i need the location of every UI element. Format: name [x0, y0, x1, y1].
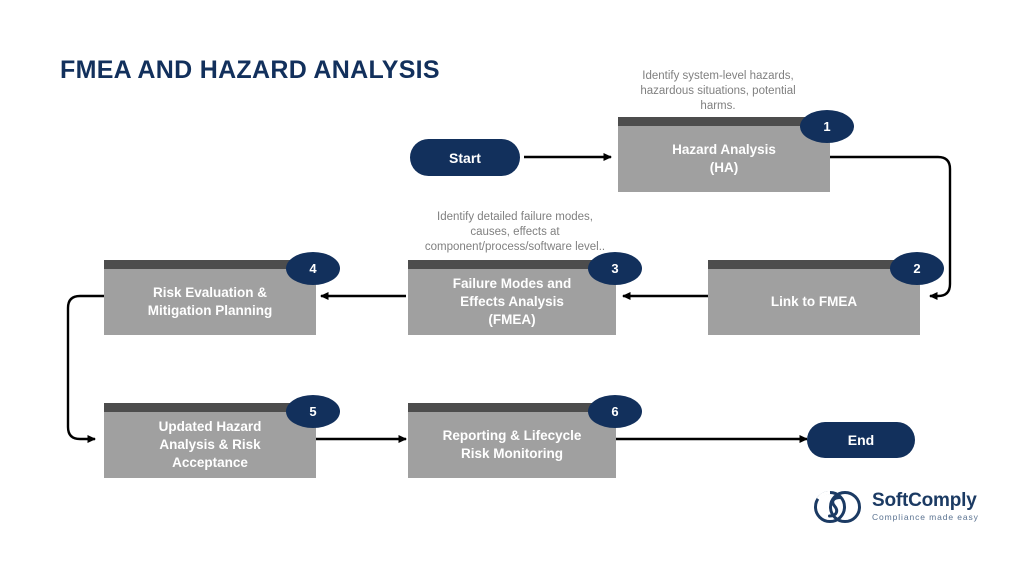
step-badge-5-number: 5: [309, 404, 316, 419]
step-badge-5: 5: [286, 395, 340, 428]
box-topbar: [104, 260, 316, 269]
diagram-canvas: FMEA AND HAZARD ANALYSIS Start Identify …: [0, 0, 1024, 585]
process-box-label: Risk Evaluation & Mitigation Planning: [104, 269, 316, 335]
process-box-updated-hazard-analysis[interactable]: Updated Hazard Analysis & Risk Acceptanc…: [104, 403, 316, 478]
step-badge-2-number: 2: [913, 261, 920, 276]
step-badge-1: 1: [800, 110, 854, 143]
step-badge-1-number: 1: [823, 119, 830, 134]
process-box-link-to-fmea[interactable]: Link to FMEA: [708, 260, 920, 335]
caption-hazard-analysis: Identify system-level hazards, hazardous…: [618, 69, 818, 114]
logo-tagline: Compliance made easy: [872, 511, 979, 523]
box-topbar: [618, 117, 830, 126]
process-box-label: Hazard Analysis (HA): [618, 126, 830, 192]
terminator-start[interactable]: Start: [410, 139, 520, 176]
softcomply-logo: SoftComply Compliance made easy: [812, 488, 979, 526]
terminator-end-label: End: [848, 432, 874, 448]
process-box-hazard-analysis[interactable]: Hazard Analysis (HA): [618, 117, 830, 192]
terminator-start-label: Start: [449, 150, 481, 166]
step-badge-6-number: 6: [611, 404, 618, 419]
box-topbar: [408, 260, 616, 269]
process-box-label: Updated Hazard Analysis & Risk Acceptanc…: [104, 412, 316, 478]
terminator-end[interactable]: End: [807, 422, 915, 458]
logo-name: SoftComply: [872, 491, 979, 511]
process-box-label: Link to FMEA: [708, 269, 920, 335]
connector-step4-to-step5: [68, 296, 104, 439]
step-badge-4-number: 4: [309, 261, 316, 276]
process-box-label: Reporting & Lifecycle Risk Monitoring: [408, 412, 616, 478]
step-badge-3-number: 3: [611, 261, 618, 276]
step-badge-3: 3: [588, 252, 642, 285]
step-badge-6: 6: [588, 395, 642, 428]
caption-fmea: Identify detailed failure modes, causes,…: [412, 210, 618, 255]
softcomply-mark-icon: [812, 488, 864, 526]
step-badge-4: 4: [286, 252, 340, 285]
box-topbar: [708, 260, 920, 269]
process-box-fmea[interactable]: Failure Modes and Effects Analysis (FMEA…: [408, 260, 616, 335]
process-box-risk-evaluation[interactable]: Risk Evaluation & Mitigation Planning: [104, 260, 316, 335]
box-topbar: [408, 403, 616, 412]
process-box-reporting[interactable]: Reporting & Lifecycle Risk Monitoring: [408, 403, 616, 478]
page-title: FMEA AND HAZARD ANALYSIS: [60, 56, 440, 85]
box-topbar: [104, 403, 316, 412]
process-box-label: Failure Modes and Effects Analysis (FMEA…: [408, 269, 616, 335]
step-badge-2: 2: [890, 252, 944, 285]
